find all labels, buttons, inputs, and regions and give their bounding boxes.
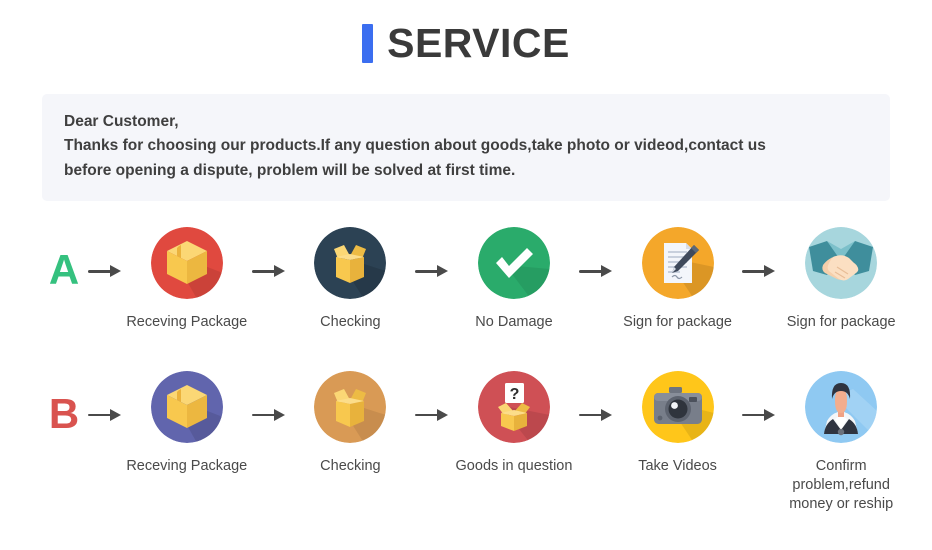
step-label: Checking: [320, 313, 380, 332]
flow-row-b: B Receving Package: [0, 371, 932, 515]
open-box-icon: [314, 227, 386, 299]
question-box-icon: ?: [478, 371, 550, 443]
row-label-b: B: [44, 393, 84, 435]
step-goods-in-question-b[interactable]: ? Goods in question: [453, 371, 575, 476]
arrow-icon: [411, 406, 453, 424]
closed-box-icon: [151, 371, 223, 443]
title-text: SERVICE: [387, 23, 570, 64]
step-checking-b[interactable]: Checking: [290, 371, 412, 476]
step-take-videos-b[interactable]: Take Videos: [617, 371, 739, 476]
handshake-icon: [805, 227, 877, 299]
closed-box-icon: [151, 227, 223, 299]
flow-row-a: A Receving Package: [0, 227, 932, 332]
camera-icon: [642, 371, 714, 443]
step-label: Checking: [320, 457, 380, 476]
arrow-icon: [84, 406, 126, 424]
step-receving-package-b[interactable]: Receving Package: [126, 371, 248, 476]
open-box-icon: [314, 371, 386, 443]
step-checking-a[interactable]: Checking: [290, 227, 412, 332]
step-no-damage-a[interactable]: No Damage: [453, 227, 575, 332]
row-label-a: A: [44, 249, 84, 291]
arrow-icon: [248, 406, 290, 424]
step-label: Sign for package: [787, 313, 896, 332]
title-accent-bar: [362, 24, 373, 63]
step-sign-for-package-a[interactable]: Sign for package: [617, 227, 739, 332]
arrow-icon: [575, 406, 617, 424]
step-label: No Damage: [475, 313, 552, 332]
step-sign-for-package-a2[interactable]: Sign for package: [780, 227, 902, 332]
step-receving-package-a[interactable]: Receving Package: [126, 227, 248, 332]
step-label: Take Videos: [638, 457, 717, 476]
arrow-icon: [575, 262, 617, 280]
arrow-icon: [738, 262, 780, 280]
step-label: Goods in question: [456, 457, 573, 476]
arrow-icon: [84, 262, 126, 280]
step-label: Sign for package: [623, 313, 732, 332]
step-label: Confirm problem,refund money or reship: [780, 457, 902, 515]
person-icon: [805, 371, 877, 443]
arrow-icon: [411, 262, 453, 280]
notice-greeting: Dear Customer,: [64, 110, 868, 134]
arrow-icon: [738, 406, 780, 424]
notice-line-1: Thanks for choosing our products.If any …: [64, 134, 868, 158]
notice-line-2: before opening a dispute, problem will b…: [64, 159, 868, 183]
checkmark-icon: [478, 227, 550, 299]
arrow-icon: [248, 262, 290, 280]
step-confirm-problem-b[interactable]: Confirm problem,refund money or reship: [780, 371, 902, 515]
step-label: Receving Package: [126, 457, 247, 476]
step-label: Receving Package: [126, 313, 247, 332]
customer-notice: Dear Customer, Thanks for choosing our p…: [42, 94, 890, 201]
page-title: SERVICE: [0, 0, 932, 86]
svg-text:?: ?: [510, 386, 520, 403]
document-pen-icon: [642, 227, 714, 299]
